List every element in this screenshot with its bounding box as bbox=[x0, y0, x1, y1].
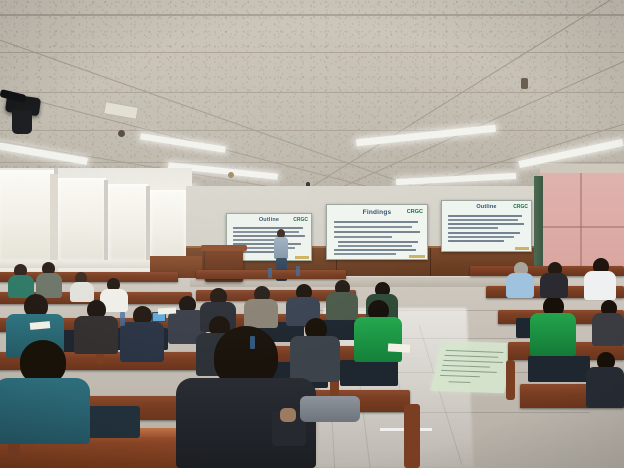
screen-left-logo: CRGC bbox=[293, 217, 308, 223]
lecture-hall-photograph: Outline CRGC Findings CRGC Outline CRGC bbox=[0, 0, 624, 468]
attendee-white-shirt bbox=[584, 258, 616, 300]
handout-paper-3 bbox=[158, 308, 176, 315]
attendee-foreground-denim-hand bbox=[280, 408, 296, 422]
attendee-right-5 bbox=[586, 352, 624, 408]
smoke-detector bbox=[118, 130, 125, 137]
screen-right-footer bbox=[515, 247, 529, 250]
bag-on-desk bbox=[300, 396, 360, 422]
attendee-centre-2 bbox=[244, 286, 278, 328]
handout-paper-2 bbox=[388, 343, 410, 352]
seat-back-7 bbox=[340, 360, 398, 386]
attendee-green-hoodie-right bbox=[530, 296, 576, 356]
screen-center-footer bbox=[409, 255, 425, 258]
attendee-right-4 bbox=[592, 300, 624, 346]
sprinkler-head bbox=[521, 78, 528, 89]
water-bottle-3 bbox=[268, 268, 272, 278]
projection-screen-right: Outline CRGC bbox=[441, 200, 532, 252]
window-blind-3 bbox=[108, 184, 148, 262]
floor-projection-spill bbox=[431, 341, 516, 394]
attendee-foreground-left bbox=[0, 340, 90, 444]
pink-panel-seam-h bbox=[540, 226, 624, 228]
window-blind-1 bbox=[0, 170, 54, 262]
attendee-foreground-denim bbox=[176, 326, 316, 468]
window-blind-4 bbox=[150, 190, 186, 262]
attendee-right-2 bbox=[540, 262, 568, 298]
ceiling-camera-stem bbox=[12, 110, 32, 134]
chair-arm-right-edge bbox=[404, 404, 420, 468]
window-mullion-2 bbox=[50, 174, 58, 272]
ceiling-knob bbox=[228, 172, 234, 178]
water-bottle-1 bbox=[120, 312, 125, 326]
attendee-back-left-3 bbox=[70, 272, 94, 302]
attendee-green-hoodie bbox=[354, 300, 402, 362]
chair-arm-4 bbox=[506, 360, 515, 400]
seat-back-8 bbox=[528, 356, 590, 382]
attendee-back-left-2 bbox=[36, 262, 62, 298]
projection-screen-center: Findings CRGC bbox=[326, 204, 428, 260]
screen-right-logo: CRGC bbox=[513, 204, 528, 210]
window-mullion-4 bbox=[146, 186, 150, 266]
right-wall-upper-trim bbox=[540, 164, 624, 173]
presenter-torso bbox=[274, 237, 288, 259]
lectern-top bbox=[201, 245, 247, 251]
window-mullion-3 bbox=[104, 180, 108, 268]
water-bottle-4 bbox=[296, 266, 300, 276]
attendee-right-1 bbox=[506, 262, 534, 298]
screen-center-logo: CRGC bbox=[407, 209, 423, 215]
window-blind-2 bbox=[58, 178, 106, 262]
attendee-back-left-1 bbox=[8, 264, 34, 298]
water-bottle-2 bbox=[250, 336, 255, 349]
screen-left-footer bbox=[295, 256, 309, 259]
